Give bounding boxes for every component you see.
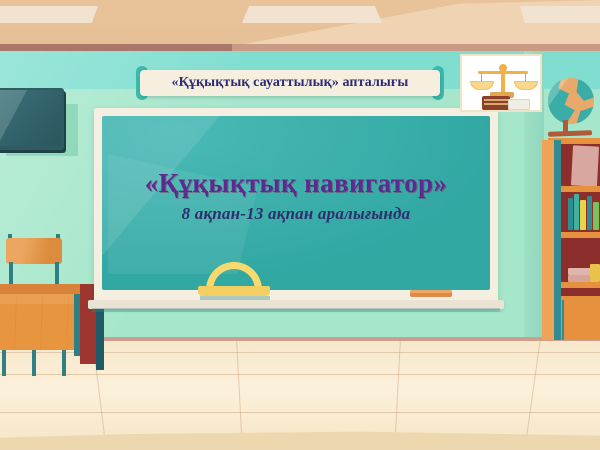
tv-screen-gloss: [0, 90, 61, 146]
chair-backrest: [6, 238, 62, 264]
book-icon: [580, 200, 586, 230]
scales-beam-icon: [478, 71, 528, 74]
ceiling-light-panel: [520, 6, 600, 23]
globe-gloss: [548, 78, 594, 124]
floor-tile-line: [0, 374, 600, 375]
scales-pan-icon: [514, 81, 538, 90]
chair-leg: [55, 262, 59, 284]
chalkboard: «Құқықтық навигатор» 8 ақпан-13 ақпан ар…: [102, 116, 490, 290]
book-icon: [593, 202, 599, 230]
book-pages: [484, 99, 508, 107]
globe-icon: [548, 78, 594, 124]
eraser-highlight: [410, 290, 452, 293]
desk-leg: [62, 350, 66, 376]
tv-screen: [0, 90, 61, 146]
scales-pan-icon: [470, 81, 494, 90]
protractor-shadow: [200, 296, 270, 300]
board-subtitle: 8 ақпан-13 ақпан аралығында: [102, 204, 490, 224]
chalkboard-ledge-shadow: [92, 308, 500, 312]
chair-leg: [9, 262, 13, 284]
ceiling-light-panel: [0, 6, 98, 23]
book-icon: [568, 198, 573, 230]
tv-icon: [0, 88, 64, 150]
book-icon: [574, 194, 579, 230]
classroom-slide: «Құқықтық навигатор» 8 ақпан-13 ақпан ар…: [0, 0, 600, 450]
protractor-base: [198, 286, 270, 296]
desk-leg: [2, 350, 6, 376]
book-icon: [571, 145, 599, 186]
justice-scales-poster: [460, 54, 542, 112]
floor-tile-line: [0, 412, 600, 413]
book-icon: [590, 264, 600, 282]
chalkboard-frame: «Құқықтық навигатор» 8 ақпан-13 ақпан ар…: [94, 108, 498, 304]
shelf-drawer-divider: [562, 300, 564, 340]
book-icon: [587, 196, 592, 230]
board-title: «Құқықтық навигатор»: [102, 168, 490, 199]
shelf-front-post-accent: [554, 140, 561, 340]
chair-wood-grain: [6, 238, 62, 264]
book-icon: [508, 99, 530, 110]
ceiling-light-panel: [242, 6, 382, 23]
desk-leg: [32, 350, 36, 376]
shelf-front-post: [542, 140, 554, 340]
banner-title: «Құқықтық сауаттылық» апталығы: [140, 70, 440, 96]
